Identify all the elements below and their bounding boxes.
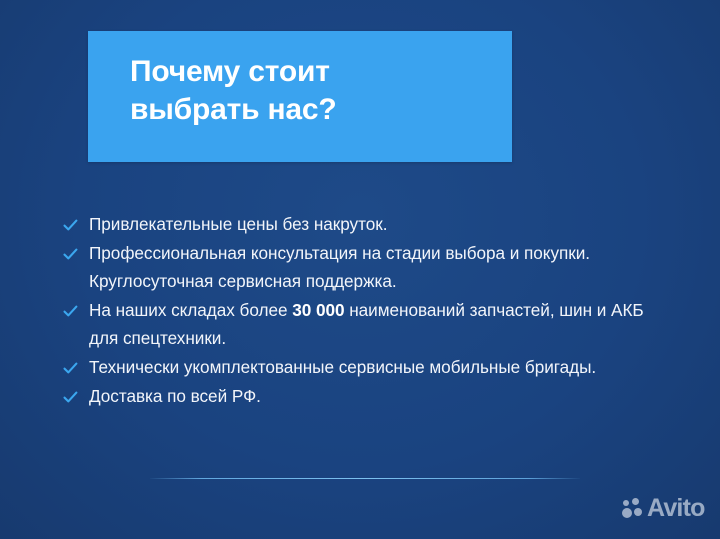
avito-watermark: Avito — [622, 497, 705, 519]
horizontal-divider — [150, 478, 580, 479]
check-icon — [63, 304, 78, 319]
list-item-label: Технически укомплектованные сервисные мо… — [89, 353, 663, 381]
check-icon — [63, 390, 78, 405]
check-icon — [63, 218, 78, 233]
list-item-label: Профессиональная консультация на стадии … — [89, 239, 663, 295]
list-item: Доставка по всей РФ. — [63, 382, 663, 410]
title-banner: Почему стоит выбрать нас? — [88, 31, 512, 162]
check-icon — [63, 361, 78, 376]
list-item-label: На наших складах более 30 000 наименован… — [89, 296, 663, 352]
slide-canvas: Почему стоит выбрать нас? Привлекательны… — [0, 0, 720, 539]
list-item: Профессиональная консультация на стадии … — [63, 239, 663, 295]
check-icon — [63, 247, 78, 262]
list-item: На наших складах более 30 000 наименован… — [63, 296, 663, 352]
list-item: Привлекательные цены без накруток. — [63, 210, 663, 238]
list-item-label: Привлекательные цены без накруток. — [89, 210, 663, 238]
list-item: Технически укомплектованные сервисные мо… — [63, 353, 663, 381]
list-item-label: Доставка по всей РФ. — [89, 382, 663, 410]
page-title: Почему стоит выбрать нас? — [130, 53, 496, 130]
avito-wordmark: Avito — [647, 497, 705, 519]
avito-dots-logo-icon — [622, 497, 644, 519]
benefits-list: Привлекательные цены без накруток.Профес… — [63, 210, 663, 411]
